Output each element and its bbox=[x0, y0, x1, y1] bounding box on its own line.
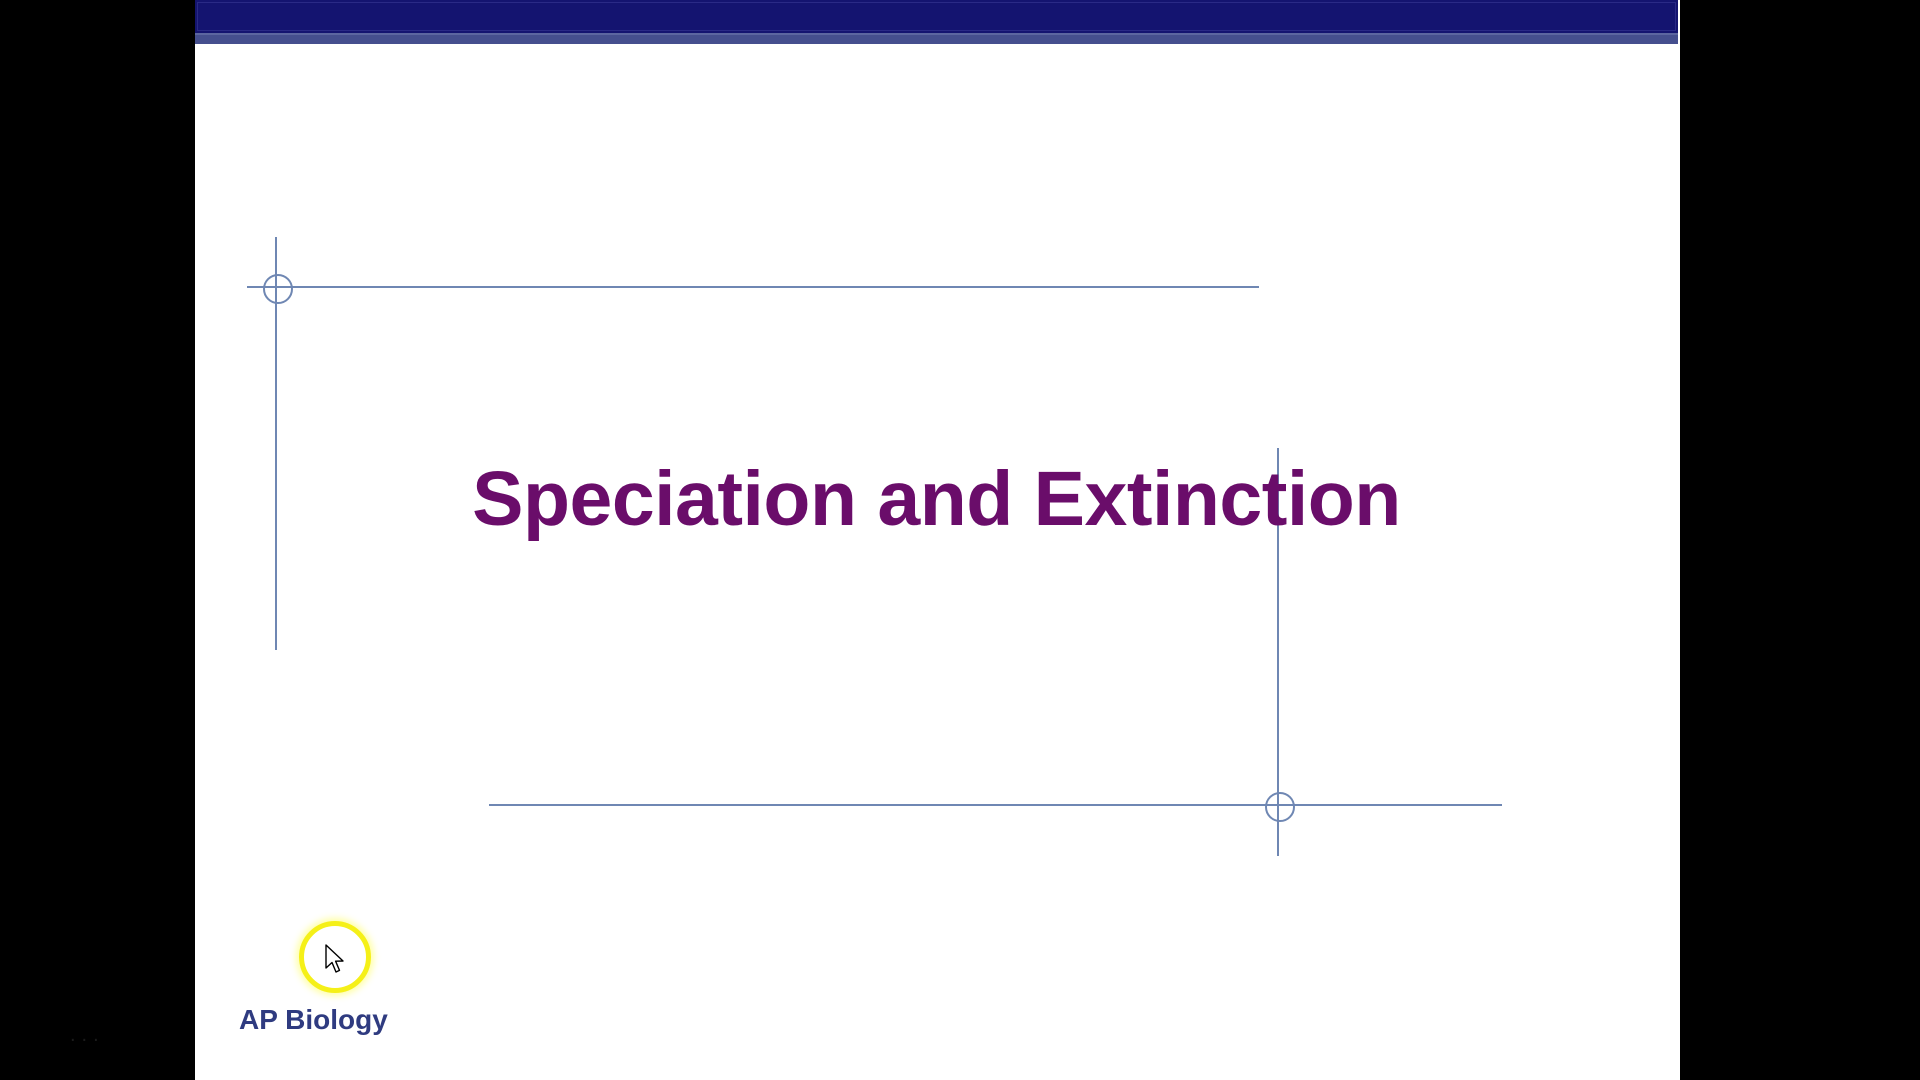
decoration-horizontal-rule-top bbox=[247, 286, 1259, 288]
banner-inner-border bbox=[197, 2, 1676, 31]
decoration-horizontal-rule-bottom bbox=[489, 804, 1502, 806]
presentation-slide[interactable]: Speciation and Extinction AP Biology bbox=[195, 0, 1680, 1080]
corner-ellipsis: ... bbox=[70, 1025, 105, 1045]
crosshair-ring-icon-top-left bbox=[263, 274, 293, 304]
arrow-pointer-icon bbox=[325, 944, 347, 976]
banner-accent-highlight bbox=[195, 33, 1678, 35]
slide-banner-accent bbox=[195, 33, 1678, 44]
slide-top-banner bbox=[195, 0, 1678, 33]
screen-canvas: ... Speciation and Extinction AP Biology bbox=[0, 0, 1920, 1080]
slide-title: Speciation and Extinction bbox=[195, 455, 1678, 544]
slide-footer-label: AP Biology bbox=[239, 1004, 388, 1036]
crosshair-ring-icon-bottom-right bbox=[1265, 792, 1295, 822]
